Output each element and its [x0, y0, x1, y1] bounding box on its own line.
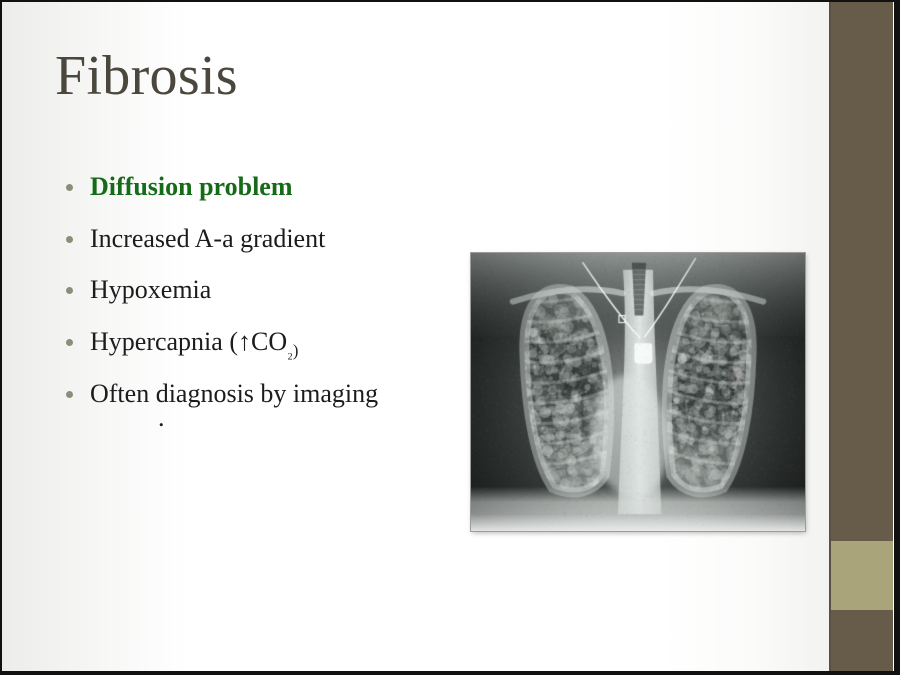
- frame-edge-top: [0, 0, 900, 2]
- slide-decorative-sidebar: [831, 0, 893, 675]
- bullet-label-subscript: ₂): [287, 327, 298, 356]
- bullet-marker-icon: [66, 236, 73, 243]
- stray-period-mark: .: [158, 403, 165, 433]
- chest-xray-image: [471, 253, 805, 531]
- subscript-two: ₂): [287, 341, 298, 360]
- slide-bullet-list: Diffusion problem Increased A-a gradient…: [62, 165, 482, 423]
- bullet-label: Often diagnosis by imaging: [90, 379, 378, 408]
- bullet-item-hypoxemia: Hypoxemia: [62, 268, 482, 312]
- chest-xray-canvas: [471, 253, 805, 531]
- sidebar-accent-block: [831, 541, 893, 610]
- bullet-marker-icon: [66, 287, 73, 294]
- frame-edge-left: [0, 0, 2, 675]
- bullet-label: Hypoxemia: [90, 275, 211, 304]
- bullet-marker-icon: [66, 184, 73, 191]
- bullet-label: Increased A-a gradient: [90, 224, 325, 253]
- bullet-item-increased-a-a-gradient: Increased A-a gradient: [62, 217, 482, 261]
- bullet-item-often-diagnosis-by-imaging: Often diagnosis by imaging: [62, 372, 482, 416]
- frame-edge-bottom: [0, 671, 900, 675]
- bullet-marker-icon: [66, 339, 73, 346]
- frame-edge-right: [894, 0, 900, 675]
- bullet-label: Hypercapnia (↑CO: [90, 327, 287, 356]
- bullet-item-diffusion-problem: Diffusion problem: [62, 165, 482, 209]
- bullet-item-hypercapnia: Hypercapnia (↑CO₂): [62, 320, 482, 364]
- bullet-marker-icon: [66, 391, 73, 398]
- presentation-slide: Fibrosis Diffusion problem Increased A-a…: [0, 0, 900, 675]
- bullet-label: Diffusion problem: [90, 172, 293, 201]
- slide-title: Fibrosis: [55, 47, 238, 106]
